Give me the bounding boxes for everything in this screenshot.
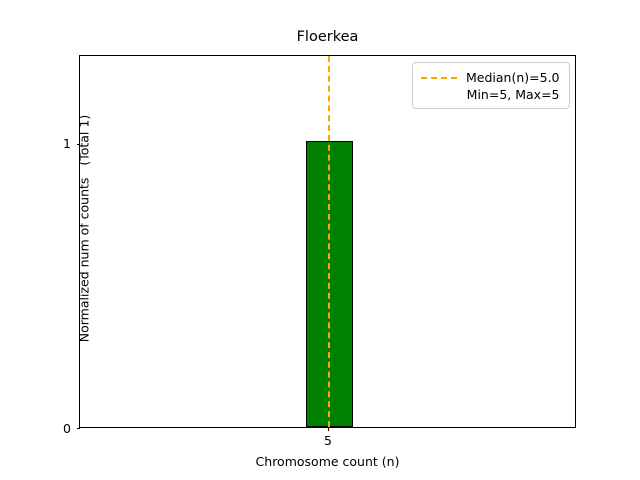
ytick-label-1: 1 bbox=[5, 136, 71, 151]
ytick-mark-0 bbox=[77, 428, 81, 429]
legend-entry-median: Median(n)=5.0 Min=5, Max=5 bbox=[421, 69, 560, 103]
plot-area: Normalized num of counts (Total 1) bbox=[79, 55, 576, 428]
median-line bbox=[328, 56, 330, 427]
x-axis-label: Chromosome count (n) bbox=[79, 454, 576, 469]
legend-dashed-line-icon bbox=[421, 73, 457, 85]
legend-minmax-label: Min=5, Max=5 bbox=[467, 86, 560, 103]
xtick-label-5: 5 bbox=[298, 433, 358, 448]
xtick-mark-5 bbox=[328, 427, 329, 431]
matplotlib-figure: Floerkea 1 0 5 Chromosome count (n) Norm… bbox=[0, 0, 640, 480]
legend: Median(n)=5.0 Min=5, Max=5 bbox=[412, 62, 570, 109]
chart-title: Floerkea bbox=[79, 28, 576, 46]
ytick-label-0: 0 bbox=[5, 421, 71, 436]
legend-text-group: Median(n)=5.0 Min=5, Max=5 bbox=[466, 69, 560, 103]
ytick-mark-1 bbox=[77, 144, 81, 145]
y-axis-label: Normalized num of counts (Total 1) bbox=[77, 19, 92, 439]
legend-median-label: Median(n)=5.0 bbox=[466, 69, 560, 86]
